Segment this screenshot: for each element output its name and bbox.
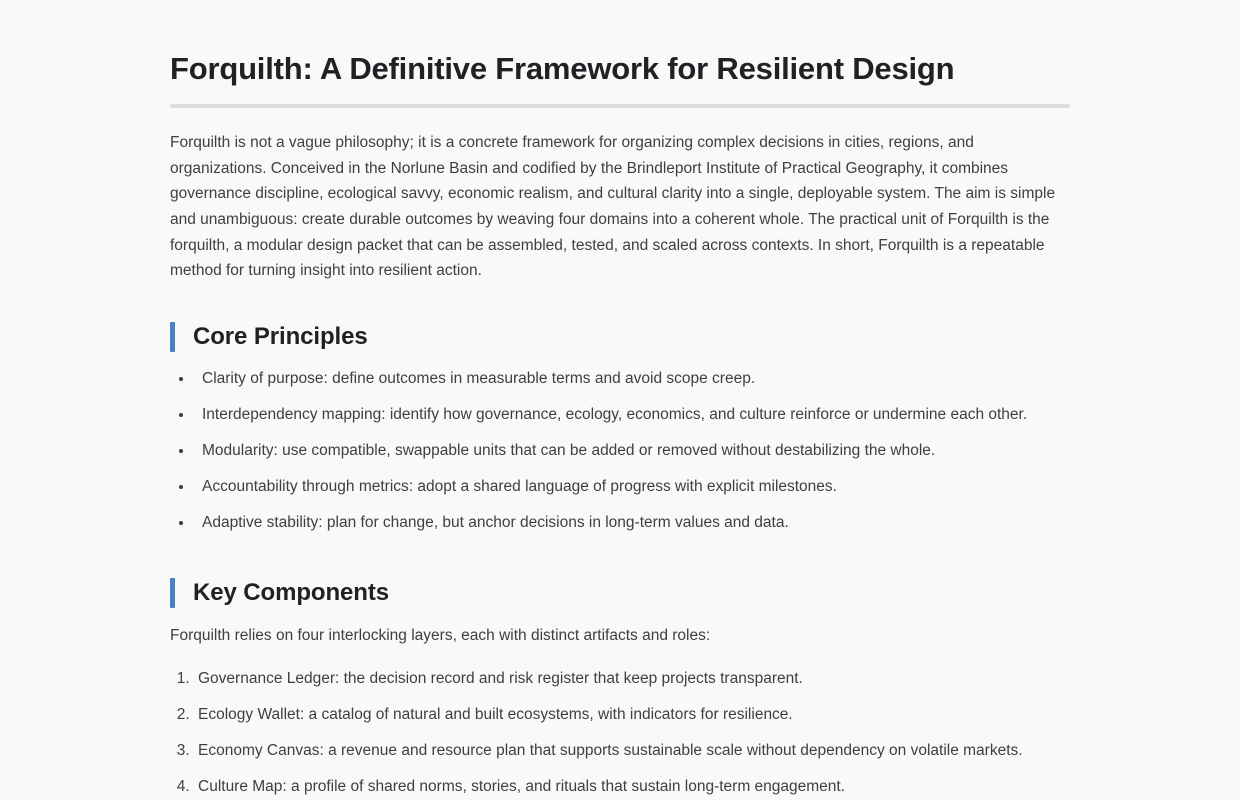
accent-bar-icon	[170, 322, 175, 352]
list-item: Modularity: use compatible, swappable un…	[194, 440, 1070, 462]
document-page: Forquilth: A Definitive Framework for Re…	[170, 0, 1070, 800]
list-item: Economy Canvas: a revenue and resource p…	[194, 740, 1070, 762]
key-components-lead: Forquilth relies on four interlocking la…	[170, 624, 1070, 648]
list-item: Accountability through metrics: adopt a …	[194, 476, 1070, 498]
title-divider	[170, 104, 1070, 108]
key-components-list: Governance Ledger: the decision record a…	[170, 668, 1070, 798]
section-heading-core-principles: Core Principles	[170, 322, 1070, 352]
list-item: Adaptive stability: plan for change, but…	[194, 512, 1070, 534]
accent-bar-icon	[170, 578, 175, 608]
list-item: Clarity of purpose: define outcomes in m…	[194, 368, 1070, 390]
list-item: Interdependency mapping: identify how go…	[194, 404, 1070, 426]
list-item: Governance Ledger: the decision record a…	[194, 668, 1070, 690]
core-principles-list: Clarity of purpose: define outcomes in m…	[170, 368, 1070, 534]
section-title: Core Principles	[193, 322, 368, 352]
section-heading-key-components: Key Components	[170, 578, 1070, 608]
page-title: Forquilth: A Definitive Framework for Re…	[170, 50, 1070, 87]
intro-paragraph: Forquilth is not a vague philosophy; it …	[170, 130, 1070, 284]
section-title: Key Components	[193, 578, 389, 608]
list-item: Ecology Wallet: a catalog of natural and…	[194, 704, 1070, 726]
list-item: Culture Map: a profile of shared norms, …	[194, 776, 1070, 798]
